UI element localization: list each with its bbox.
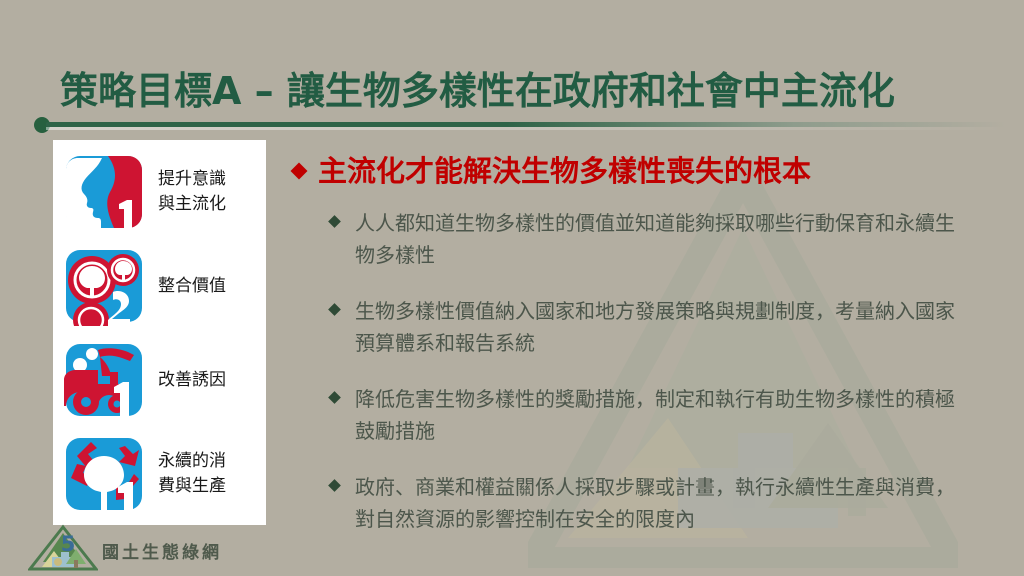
footer-organization: 國土生態綠網 — [102, 538, 222, 563]
two-faces-icon — [64, 152, 144, 232]
bullet-list: 人人都知道生物多樣性的價值並知道能夠採取哪些行動保育和永續生物多樣性 生物多樣性… — [330, 207, 980, 559]
icon-panel-row-2: 整合價值 — [53, 238, 266, 334]
bullet-diamond-icon — [328, 391, 341, 404]
icon-panel-row-1: 提升意識 與主流化 — [53, 144, 266, 240]
list-item: 政府、商業和權益關係人採取步驟或計畫，執行永續性生產與消費，對自然資源的影響控制… — [330, 471, 980, 535]
divider-line — [46, 122, 1006, 127]
icon-panel-row-4: 永續的消 費與生產 — [53, 426, 266, 522]
slide-canvas: 策略目標A – 讓生物多樣性在政府和社會中主流化 提升意識 與主流化 — [0, 0, 1024, 576]
bullet-text: 人人都知道生物多樣性的價值並知道能夠採取哪些行動保育和永續生物多樣性 — [355, 207, 963, 271]
list-item: 生物多樣性價值納入國家和地方發展策略與規劃制度，考量納入國家預算體系和報告系統 — [330, 295, 980, 359]
heading-bullet-diamond-icon — [291, 163, 308, 180]
section-heading-text: 主流化才能解決生物多樣性喪失的根本 — [318, 152, 811, 190]
slide-number: 5 — [56, 532, 80, 556]
icon-panel-caption-2: 整合價值 — [158, 274, 226, 299]
caption-1-line-2: 與主流化 — [158, 192, 226, 217]
bullet-text: 降低危害生物多樣性的獎勵措施，制定和執行有助生物多樣性的積極鼓勵措施 — [355, 383, 963, 447]
slide-footer: 5 國土生態綠網 — [28, 524, 328, 572]
bullet-text: 政府、商業和權益關係人採取步驟或計畫，執行永續性生產與消費，對自然資源的影響控制… — [355, 471, 963, 535]
tree-circles-icon — [64, 246, 144, 326]
list-item: 降低危害生物多樣性的獎勵措施，制定和執行有助生物多樣性的積極鼓勵措施 — [330, 383, 980, 447]
bullet-diamond-icon — [328, 479, 341, 492]
icon-panel: 提升意識 與主流化 整合價值 — [53, 140, 266, 525]
title-divider — [34, 116, 1009, 134]
caption-1-line-1: 提升意識 — [158, 167, 226, 192]
caption-4-line-2: 費與生產 — [158, 474, 226, 499]
icon-panel-row-3: 改善誘因 — [53, 332, 266, 428]
icon-panel-caption-1: 提升意識 與主流化 — [158, 167, 226, 217]
tractor-icon — [64, 340, 144, 420]
bullet-diamond-icon — [328, 303, 341, 316]
list-item: 人人都知道生物多樣性的價值並知道能夠採取哪些行動保育和永續生物多樣性 — [330, 207, 980, 271]
caption-3-line-1: 改善誘因 — [158, 368, 226, 393]
bullet-diamond-icon — [328, 215, 341, 228]
caption-4-line-1: 永續的消 — [158, 449, 226, 474]
page-title: 策略目標A – 讓生物多樣性在政府和社會中主流化 — [60, 64, 980, 118]
recycle-tree-icon — [64, 434, 144, 514]
section-heading: 主流化才能解決生物多樣性喪失的根本 — [293, 152, 993, 194]
caption-2-line-1: 整合價值 — [158, 274, 226, 299]
icon-panel-caption-3: 改善誘因 — [158, 368, 226, 393]
icon-panel-caption-4: 永續的消 費與生產 — [158, 449, 226, 499]
bullet-text: 生物多樣性價值納入國家和地方發展策略與規劃制度，考量納入國家預算體系和報告系統 — [355, 295, 963, 359]
